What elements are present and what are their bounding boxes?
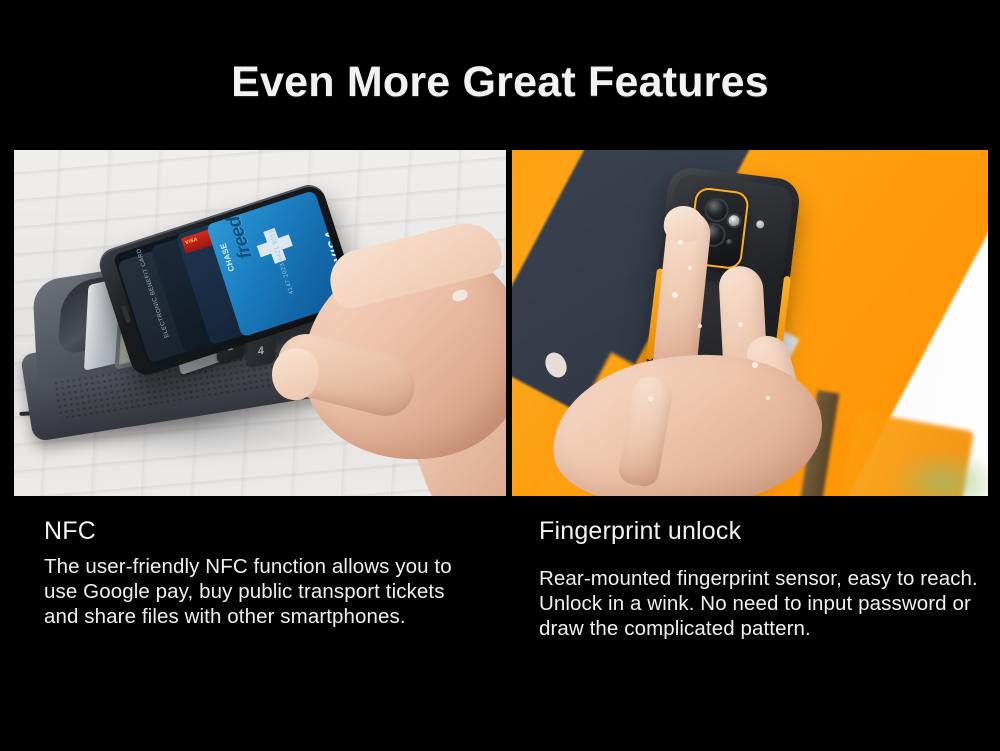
nfc-caption: NFC The user-friendly NFC function allow… bbox=[44, 518, 464, 629]
dust-speck bbox=[766, 396, 770, 400]
nfc-description: The user-friendly NFC function allows yo… bbox=[44, 554, 464, 629]
fingerprint-photo: BLACKVIEW bbox=[512, 150, 988, 496]
fingerprint-sensor bbox=[728, 215, 740, 227]
dust-speck bbox=[648, 396, 653, 401]
dust-speck bbox=[688, 266, 692, 270]
dust-speck bbox=[678, 240, 683, 245]
fingerprint-caption: Fingerprint unlock Rear-mounted fingerpr… bbox=[539, 518, 979, 641]
dust-speck bbox=[752, 362, 758, 368]
promo-page: Even More Great Features 1 4 7 F bbox=[0, 0, 1000, 751]
dust-speck bbox=[738, 322, 743, 327]
camera-lens-macro bbox=[725, 238, 734, 247]
dust-speck bbox=[672, 292, 678, 298]
nfc-photo: 1 4 7 F ELECTRONIC BENEFIT CARD VISA bbox=[14, 150, 506, 496]
fingerprint-description: Rear-mounted fingerprint sensor, easy to… bbox=[539, 566, 979, 641]
camera-lens-main bbox=[705, 199, 727, 221]
hand-holding-phone bbox=[266, 206, 506, 496]
page-title: Even More Great Features bbox=[0, 58, 1000, 107]
wallet-card-badge-label: VISA bbox=[185, 237, 199, 247]
fingerprint-heading: Fingerprint unlock bbox=[539, 518, 979, 546]
dust-speck bbox=[698, 324, 702, 328]
hand-pressing-sensor bbox=[552, 300, 882, 496]
foliage-blur bbox=[890, 450, 988, 496]
nfc-heading: NFC bbox=[44, 518, 464, 546]
